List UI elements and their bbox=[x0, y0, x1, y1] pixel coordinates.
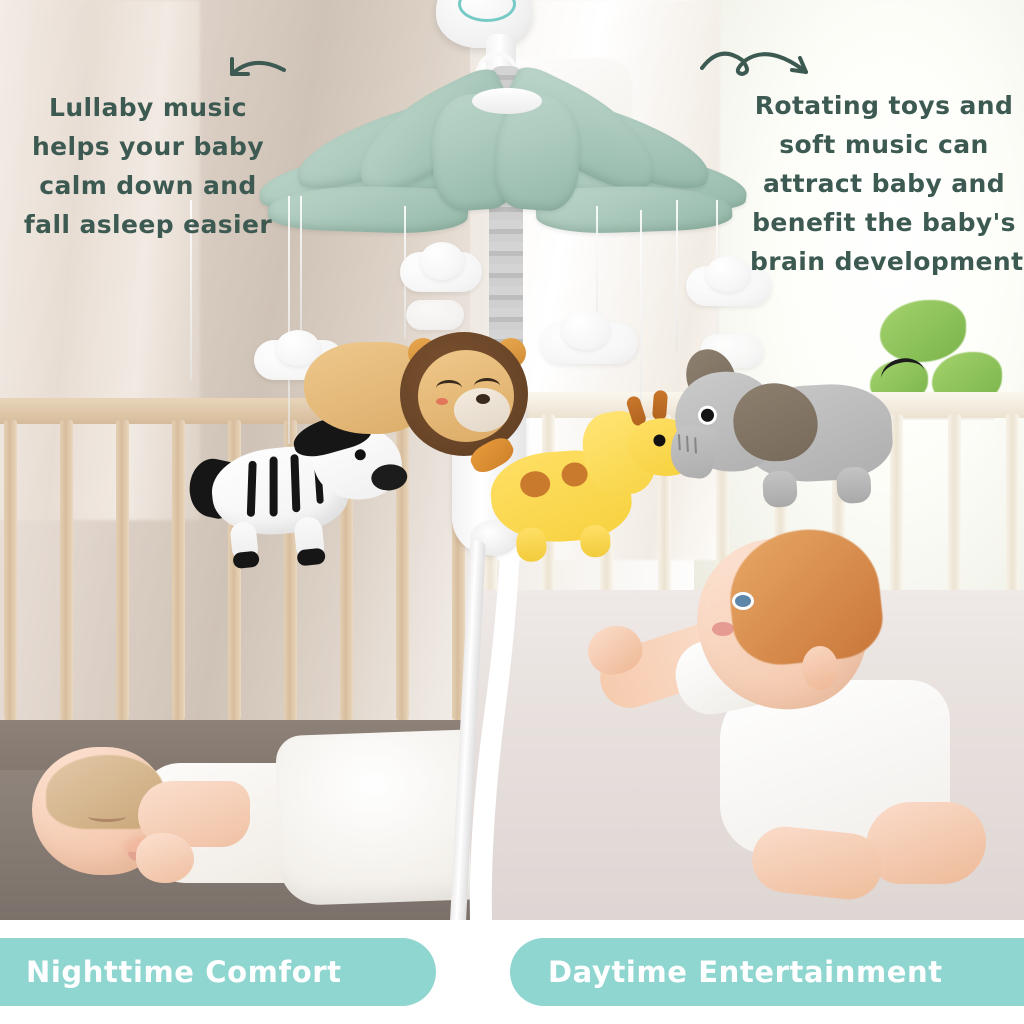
awake-baby bbox=[580, 530, 1000, 920]
callout-left-line-3: calm down and bbox=[18, 166, 278, 205]
baby-eye bbox=[732, 592, 754, 610]
crib-slat bbox=[116, 420, 129, 720]
callout-left-line-2: helps your baby bbox=[18, 127, 278, 166]
crib-pillow bbox=[472, 58, 632, 198]
crib-slat bbox=[60, 420, 73, 720]
curtain-left bbox=[0, 0, 200, 520]
callout-left: Lullaby music helps your baby calm down … bbox=[18, 88, 278, 244]
crib-slat bbox=[4, 420, 17, 720]
baby-leg bbox=[866, 802, 986, 884]
baby-eye-closed bbox=[88, 811, 126, 822]
banner-daytime-label: Daytime Entertainment bbox=[548, 955, 943, 989]
crib-slat bbox=[340, 420, 353, 720]
banner-nighttime-comfort: Nighttime Comfort bbox=[0, 938, 436, 1006]
baby-hand bbox=[136, 833, 194, 883]
crib-slat bbox=[396, 420, 409, 720]
banner-nighttime-label: Nighttime Comfort bbox=[26, 955, 342, 989]
baby-mouth bbox=[712, 622, 734, 636]
callout-right-line-4: benefit the baby's bbox=[750, 203, 1018, 242]
crib-slat bbox=[172, 420, 185, 720]
callout-right-line-1: Rotating toys and bbox=[750, 86, 1018, 125]
crib-slat bbox=[452, 420, 465, 720]
callout-right-line-2: soft music can bbox=[750, 125, 1018, 164]
product-image-stage: Lullaby music helps your baby calm down … bbox=[0, 0, 1024, 1024]
crib-rail-left bbox=[0, 398, 520, 424]
baby-ear bbox=[802, 646, 838, 690]
callout-right-line-5: brain development bbox=[750, 242, 1018, 281]
callout-right-line-3: attract baby and bbox=[750, 164, 1018, 203]
crib-slat bbox=[228, 420, 241, 720]
banner-daytime-entertainment: Daytime Entertainment bbox=[510, 938, 1024, 1006]
callout-left-line-4: fall asleep easier bbox=[18, 205, 278, 244]
crib-slat bbox=[284, 420, 297, 720]
bottom-banner-bar: Nighttime Comfort Daytime Entertainment bbox=[0, 920, 1024, 1024]
callout-left-line-1: Lullaby music bbox=[18, 88, 278, 127]
callout-right: Rotating toys and soft music can attract… bbox=[750, 86, 1018, 281]
